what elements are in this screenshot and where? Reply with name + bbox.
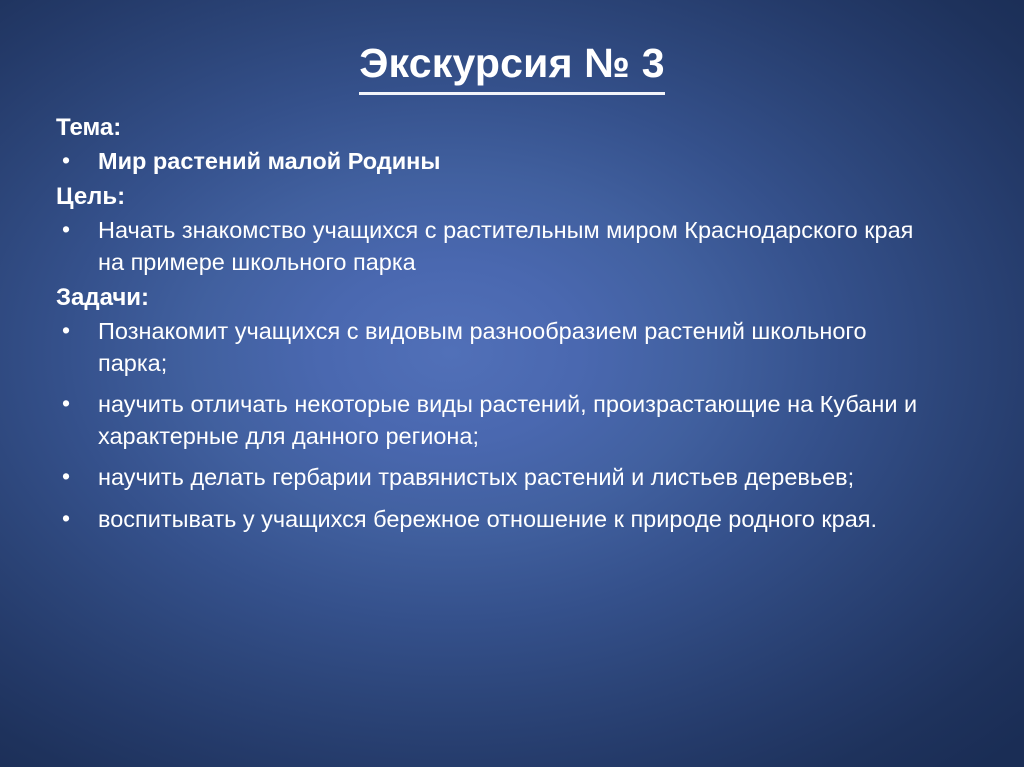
section-heading-tema: Тема: [56, 112, 976, 144]
slide-title-block: Экскурсия № 3 [0, 14, 1024, 123]
bullet-icon: • [56, 461, 98, 493]
list-item: • научить отличать некоторые виды растен… [56, 388, 976, 452]
list-item: • Познакомит учащихся с видовым разнообр… [56, 315, 976, 379]
bullet-icon: • [56, 388, 98, 420]
list-item-label: Мир растений малой Родины [98, 145, 938, 177]
section-heading-zadachi: Задачи: [56, 282, 976, 314]
presentation-slide: Экскурсия № 3 Тема: • Мир растений малой… [0, 0, 1024, 767]
bullet-icon: • [56, 315, 98, 347]
bullet-icon: • [56, 503, 98, 535]
section-heading-cel: Цель: [56, 181, 976, 213]
list-item: • Начать знакомство учащихся с раститель… [56, 214, 976, 278]
page-title: Экскурсия № 3 [359, 41, 665, 95]
list-item-label: Начать знакомство учащихся с растительны… [98, 214, 938, 278]
list-item: • воспитывать у учащихся бережное отноше… [56, 503, 976, 535]
list-item: • Мир растений малой Родины [56, 145, 976, 177]
bullet-icon: • [56, 145, 98, 177]
list-item-label: научить отличать некоторые виды растений… [98, 388, 938, 452]
list-item-label: воспитывать у учащихся бережное отношени… [98, 503, 938, 535]
list-item: • научить делать гербарии травянистых ра… [56, 461, 976, 493]
slide-content: Тема: • Мир растений малой Родины Цель: … [56, 112, 976, 535]
list-item-label: научить делать гербарии травянистых раст… [98, 461, 938, 493]
list-item-label: Познакомит учащихся с видовым разнообраз… [98, 315, 938, 379]
bullet-icon: • [56, 214, 98, 246]
